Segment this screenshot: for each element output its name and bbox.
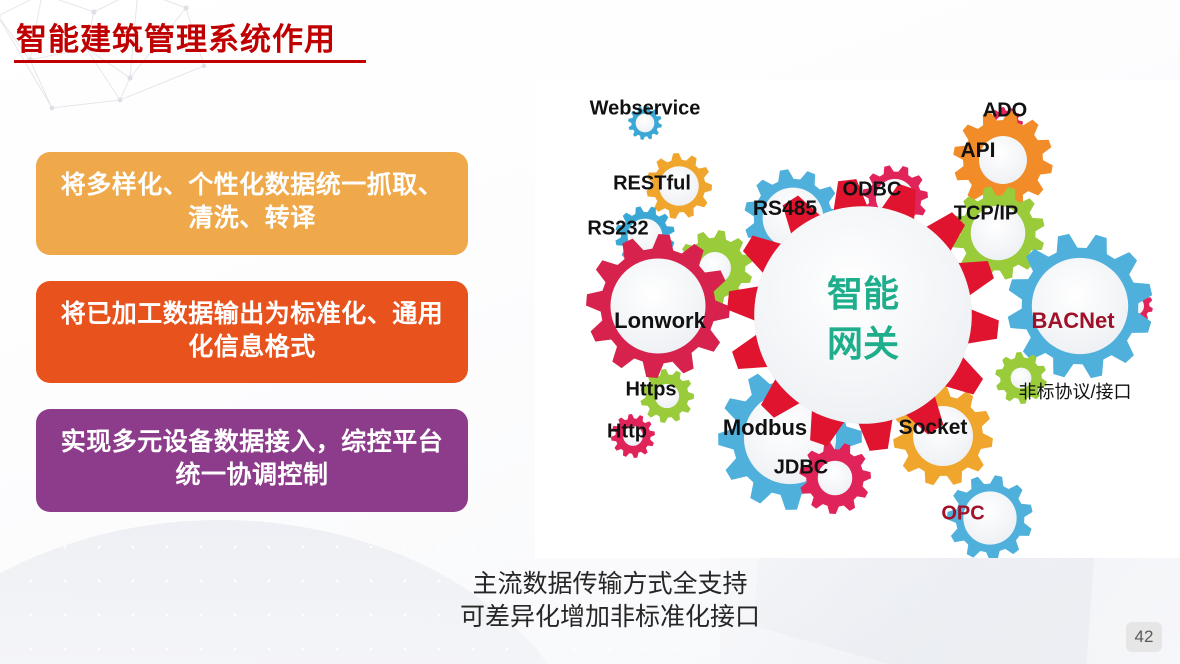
slide-canvas: 智能建筑管理系统作用 将多样化、个性化数据统一抓取、清洗、转译 将已加工数据输出…: [0, 0, 1180, 664]
feature-card-2[interactable]: 将已加工数据输出为标准化、通用化信息格式: [36, 281, 468, 384]
caption-line-1: 主流数据传输方式全支持: [300, 568, 920, 601]
page-title: 智能建筑管理系统作用: [16, 14, 336, 59]
gear-diagram: Webservice RESTful RS232 RS485 ODBC ADO …: [535, 78, 1180, 558]
diagram-caption: 主流数据传输方式全支持 可差异化增加非标准化接口: [300, 568, 920, 634]
page-number-badge: 42: [1126, 622, 1162, 652]
caption-line-2: 可差异化增加非标准化接口: [300, 601, 920, 634]
feature-card-1[interactable]: 将多样化、个性化数据统一抓取、清洗、转译: [36, 152, 468, 255]
gear-diagram-svg: [535, 78, 1180, 558]
feature-card-list: 将多样化、个性化数据统一抓取、清洗、转译 将已加工数据输出为标准化、通用化信息格…: [36, 152, 468, 538]
title-underline: [14, 60, 366, 63]
feature-card-3[interactable]: 实现多元设备数据接入，综控平台统一协调控制: [36, 409, 468, 512]
